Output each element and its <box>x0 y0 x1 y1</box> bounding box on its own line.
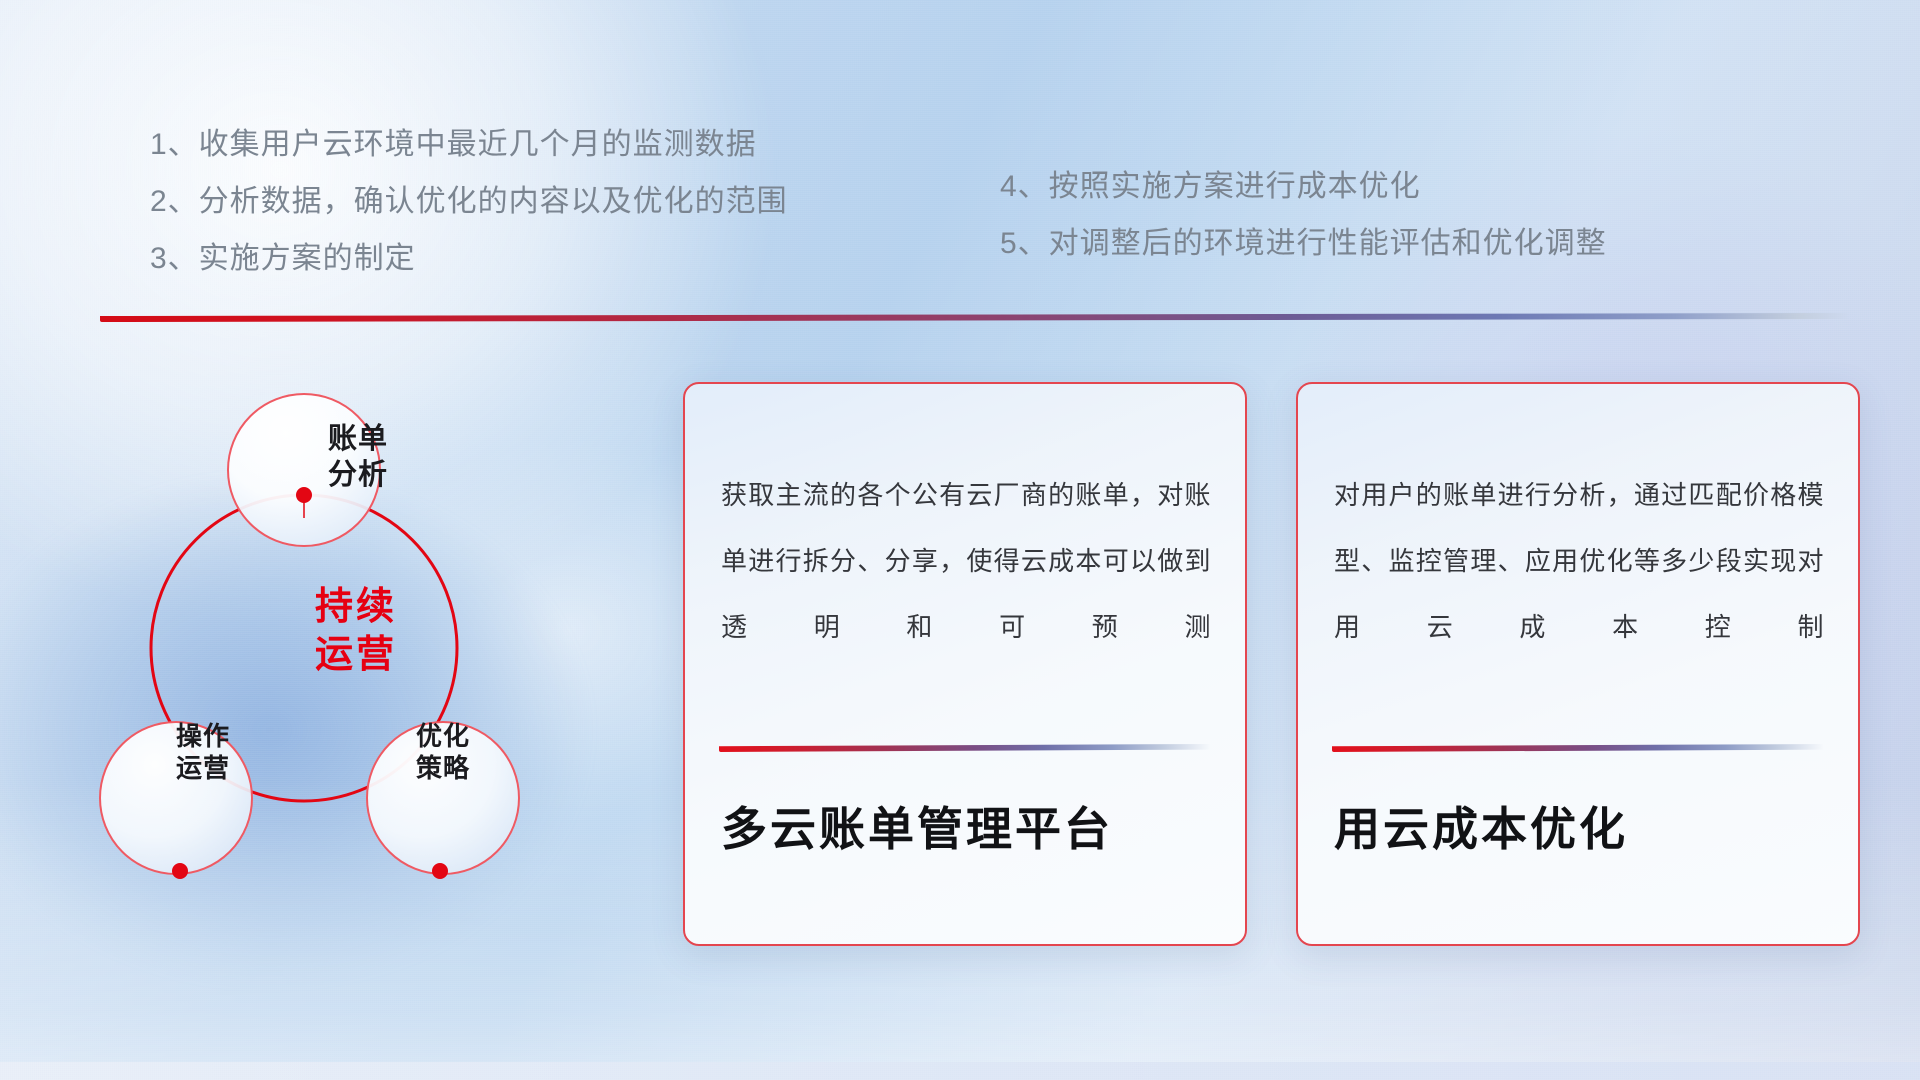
slide-canvas: 1、收集用户云环境中最近几个月的监测数据 2、分析数据，确认优化的内容以及优化的… <box>0 0 1920 1080</box>
card-multicloud-billing[interactable]: 获取主流的各个公有云厂商的账单，对账单进行拆分、分享，使得云成本可以做到透明和可… <box>683 382 1247 946</box>
card-cloud-cost-optimization[interactable]: 对用户的账单进行分析，通过匹配价格模型、监控管理、应用优化等多少段实现对用云成本… <box>1296 382 1860 946</box>
venn-bubble-left <box>100 722 252 874</box>
venn-center-label: 持续 运营 <box>246 584 466 680</box>
venn-connector-dot-right <box>432 863 448 879</box>
venn-center-line1: 持续 <box>246 584 466 632</box>
card-one-title: 多云账单管理平台 <box>721 802 1217 857</box>
venn-bubble-right <box>367 722 519 874</box>
card-two-body: 对用户的账单进行分析，通过匹配价格模型、监控管理、应用优化等多少段实现对用云成本… <box>1334 462 1824 660</box>
step-item-3: 3、实施方案的制定 <box>150 230 788 287</box>
steps-list: 1、收集用户云环境中最近几个月的监测数据 2、分析数据，确认优化的内容以及优化的… <box>0 0 1920 300</box>
steps-column-left: 1、收集用户云环境中最近几个月的监测数据 2、分析数据，确认优化的内容以及优化的… <box>150 116 788 287</box>
step-item-4: 4、按照实施方案进行成本优化 <box>1000 158 1607 215</box>
step-item-5: 5、对调整后的环境进行性能评估和优化调整 <box>1000 215 1607 272</box>
venn-center-line2: 运营 <box>246 632 466 680</box>
venn-connector-dot-left <box>172 863 188 879</box>
step-item-2: 2、分析数据，确认优化的内容以及优化的范围 <box>150 173 788 230</box>
venn-bubble-top <box>228 394 380 546</box>
card-two-title: 用云成本优化 <box>1334 802 1830 857</box>
steps-column-right: 4、按照实施方案进行成本优化 5、对调整后的环境进行性能评估和优化调整 <box>1000 158 1607 272</box>
card-two-divider <box>1332 744 1824 752</box>
card-one-body: 获取主流的各个公有云厂商的账单，对账单进行拆分、分享，使得云成本可以做到透明和可… <box>721 462 1211 660</box>
venn-diagram: 账单 分析 操作 运营 优化 策略 持续 运营 <box>96 348 616 928</box>
step-item-1: 1、收集用户云环境中最近几个月的监测数据 <box>150 116 788 173</box>
card-one-divider <box>719 744 1211 752</box>
